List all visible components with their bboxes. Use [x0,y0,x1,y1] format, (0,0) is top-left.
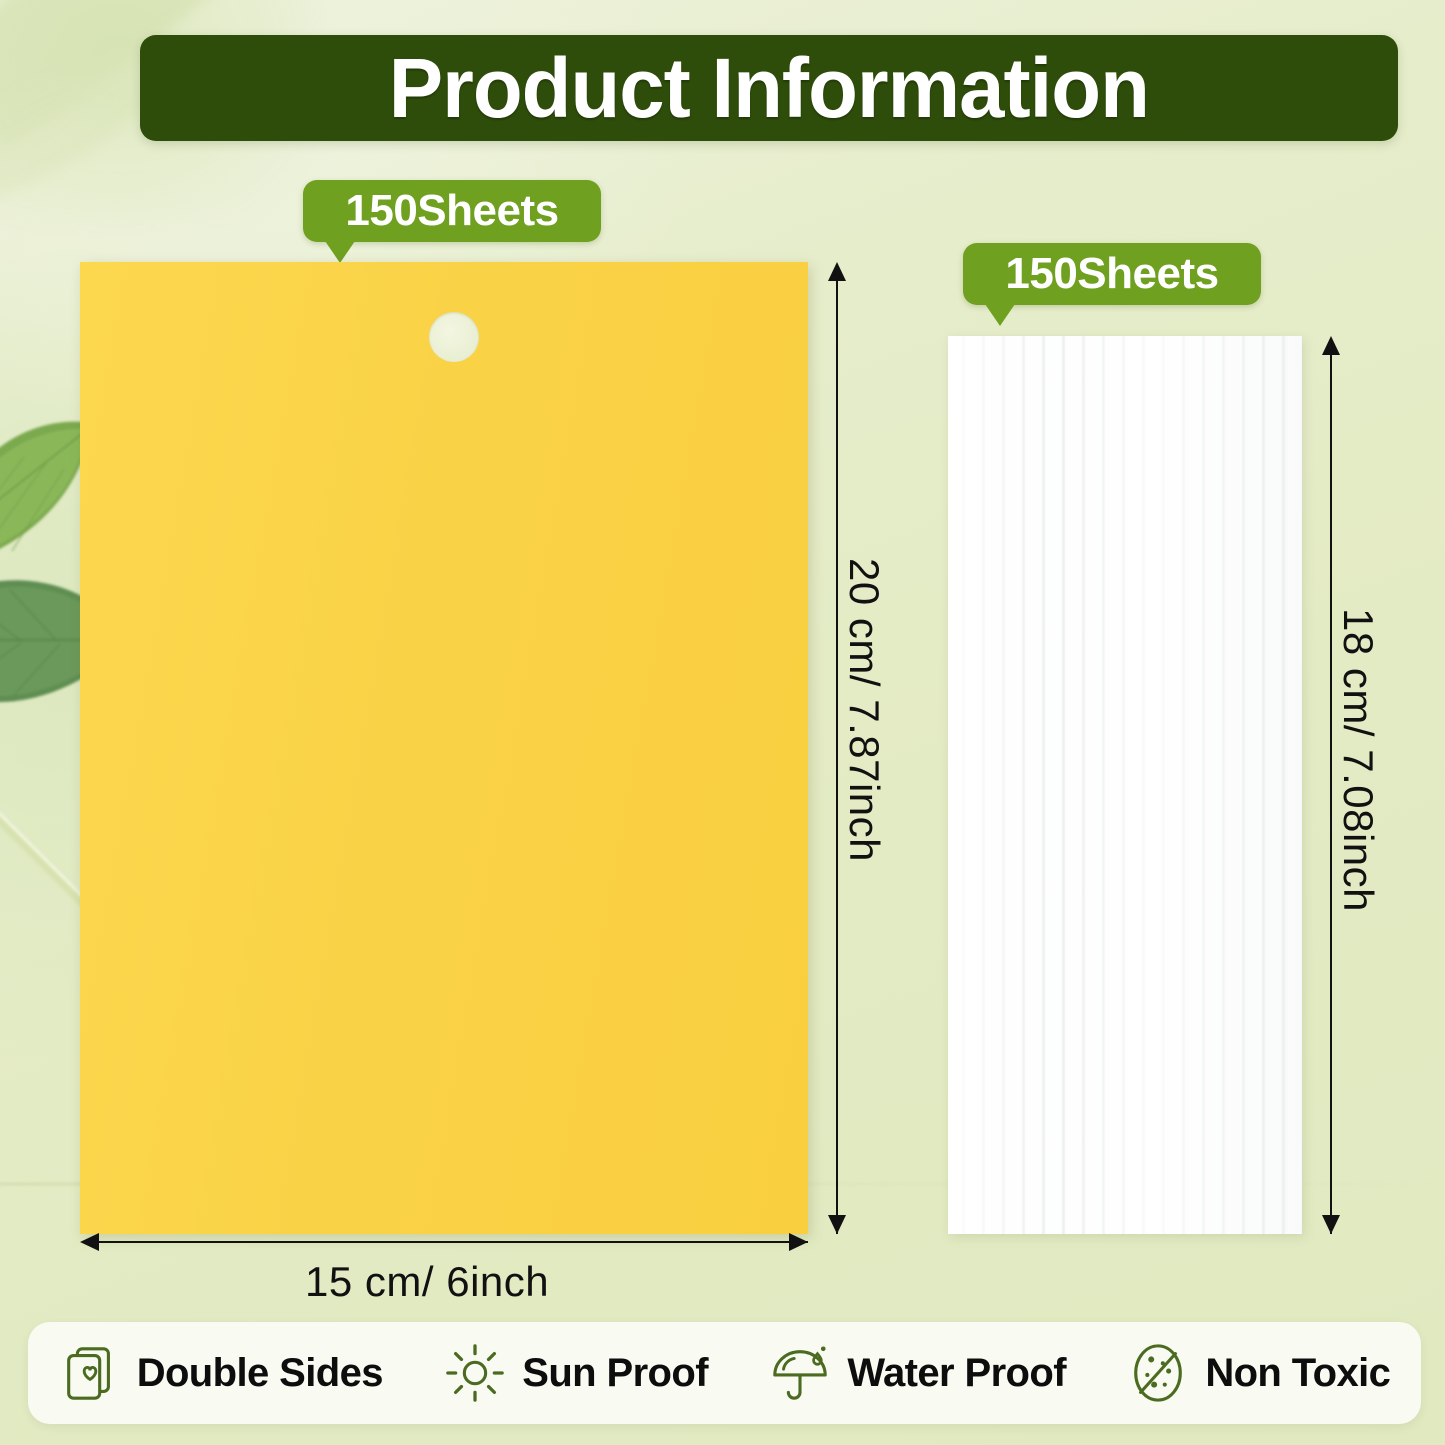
dimension-line [1330,346,1332,1234]
double-cards-heart-icon [59,1342,121,1404]
arrowhead-right-icon [789,1233,808,1251]
product-information-infographic: Product Information 150Sheets 150Sheets … [0,0,1445,1445]
sheets-badge-label: 150Sheets [1005,252,1218,296]
sheets-badge-yellow-card: 150Sheets [303,180,601,242]
feature-label: Double Sides [137,1351,383,1396]
page-title: Product Information [389,46,1149,130]
yellow-sticky-card [80,262,808,1234]
feature-double-sides: Double Sides [59,1342,383,1404]
arrowhead-up-icon [828,262,846,281]
umbrella-icon [769,1342,831,1404]
dimension-height-label: 18 cm/ 7.08inch [1334,608,1382,912]
white-plastic-stakes [948,336,1302,1234]
feature-sun-proof: Sun Proof [444,1342,708,1404]
arrowhead-down-icon [1322,1215,1340,1234]
sun-icon [444,1342,506,1404]
non-toxic-icon [1127,1342,1189,1404]
hanging-hole [429,312,479,362]
dimension-line [90,1241,808,1243]
feature-label: Water Proof [847,1351,1066,1396]
feature-bar: Double Sides Sun Proof [28,1322,1421,1424]
dimension-line [836,272,838,1234]
feature-water-proof: Water Proof [769,1342,1066,1404]
arrowhead-up-icon [1322,336,1340,355]
dimension-width-label: 15 cm/ 6inch [305,1258,549,1306]
sheets-badge-stakes: 150Sheets [963,243,1261,305]
sheets-badge-label: 150Sheets [345,189,558,233]
stake-sheen [948,336,1302,1234]
arrowhead-down-icon [828,1215,846,1234]
dimension-height-label: 20 cm/ 7.87inch [840,558,888,862]
feature-label: Sun Proof [522,1351,708,1396]
arrowhead-left-icon [80,1233,99,1251]
page-title-banner: Product Information [140,35,1398,141]
feature-non-toxic: Non Toxic [1127,1342,1390,1404]
feature-label: Non Toxic [1205,1351,1390,1396]
